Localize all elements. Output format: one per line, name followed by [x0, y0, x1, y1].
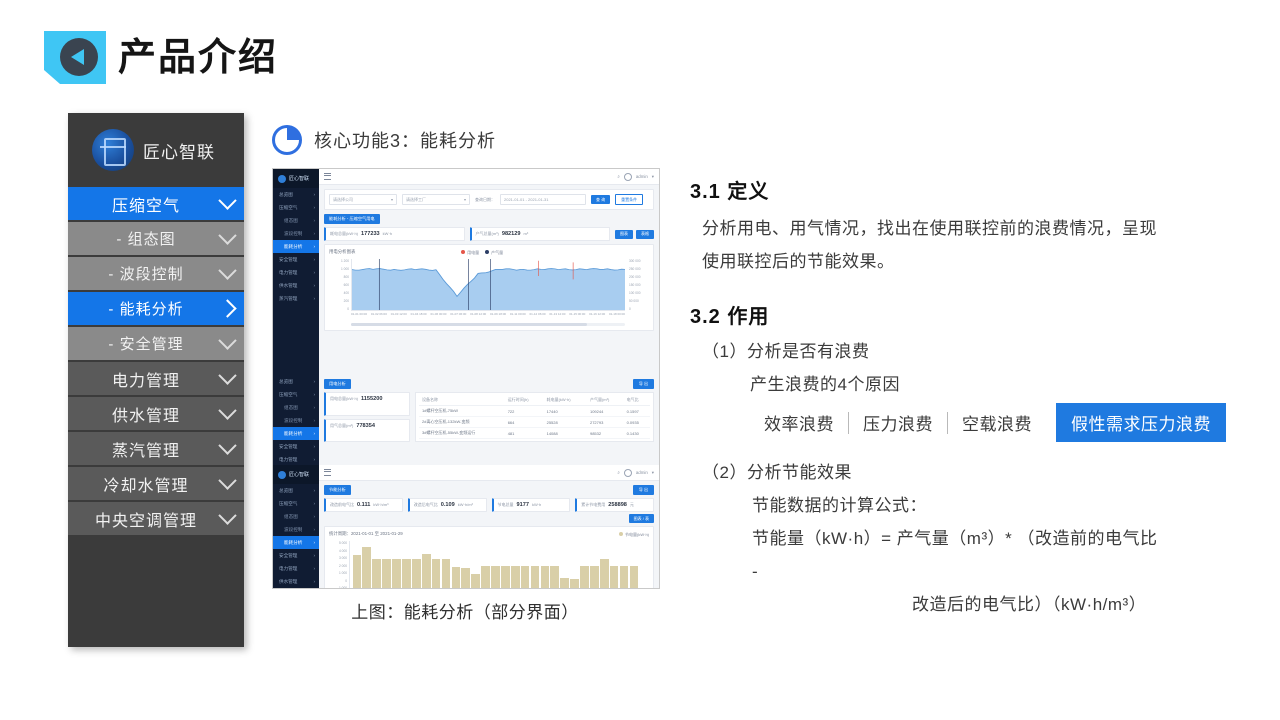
x-tick: 01-04 18:00: [411, 312, 427, 321]
table-header-cell: 运行时间(h): [505, 395, 544, 406]
chevron-right-icon: ›: [313, 392, 315, 397]
embedded-app-screenshot: 匠心智联 总览图›压缩空气›组态图›波段控制›能耗分析›安全管理›电力管理›供水…: [272, 168, 660, 589]
stat-card: 用电总量(kW·h) 1155200: [324, 392, 410, 416]
menu-item-6[interactable]: 供水管理: [68, 397, 244, 432]
y-tick: 5 000: [339, 541, 347, 545]
bar[interactable]: [560, 578, 569, 589]
waste-reason-tags: 效率浪费 压力浪费 空载浪费 假性需求压力浪费: [690, 403, 1250, 442]
bar[interactable]: [461, 568, 470, 589]
table-cell: 722: [505, 406, 544, 417]
panel-title: 统计周期：2021-01-01 至 2021-01-29: [329, 531, 403, 537]
x-tick: 01-03 12:00: [391, 312, 407, 321]
menu-item-label: - 能耗分析: [68, 298, 210, 319]
avatar[interactable]: [624, 469, 632, 477]
x-axis: 01-01 00:0001-02 06:0001-03 12:0001-04 1…: [351, 312, 625, 321]
app-logo-icon: [278, 471, 286, 479]
app-brand-label: 匠心智联: [289, 175, 309, 182]
page-title: 产品介绍: [118, 32, 278, 84]
chart-scrollbar[interactable]: [351, 323, 625, 326]
chevron-right-icon: ›: [313, 283, 315, 288]
table-cell: 98532: [587, 428, 624, 439]
app-main-table: 用电分析 导 出 用电总量(kW·h) 1155200 用气总量(m³) 778…: [319, 375, 659, 465]
title-badge: [44, 31, 106, 84]
section-3-1-body-line2: 使用联控后的节能效果。: [690, 245, 1250, 278]
app-sidebar-3: 匠心智联 总览图›压缩空气›组态图›波段控制›能耗分析›安全管理›电力管理›供水…: [273, 465, 319, 589]
bar[interactable]: [362, 547, 371, 589]
y-tick: 200: [344, 299, 349, 303]
chevron-down-icon[interactable]: ▾: [652, 470, 654, 476]
app-sidebar-item-6[interactable]: 电力管理›: [273, 453, 319, 465]
app-pane-table: 总览图›压缩空气›组态图›波段控制›能耗分析›安全管理›电力管理›供水管理›蒸汽…: [273, 375, 659, 465]
x-tick: 01-11 00:00: [510, 312, 526, 321]
chevron-right-icon: ›: [313, 431, 315, 436]
bar[interactable]: [501, 566, 510, 589]
table-cell: 0.1597: [624, 406, 650, 417]
section-3-1-body-line1: 分析用电、用气情况，找出在使用联控前的浪费情况，呈现: [690, 212, 1250, 245]
section-3-2-heading: 3.2 作用: [690, 300, 1250, 329]
circular-brand-logo-icon: [92, 129, 134, 171]
chevron-right-icon: ›: [313, 566, 315, 571]
y-tick-right: 300 000: [629, 259, 641, 263]
table-cell: 14088: [544, 428, 587, 439]
chevron-right-icon: ›: [313, 501, 315, 506]
waste-tag-0[interactable]: 效率浪费: [750, 410, 848, 435]
app-sidebar-item-3[interactable]: 波段控制›: [273, 227, 319, 240]
y-axis: 5 0004 0003 0002 0001 0000-1 000: [329, 541, 347, 589]
stat-card: 用气总量(m³) 778354: [324, 419, 410, 443]
app-user-label: admin: [636, 174, 648, 179]
menu-brand-label: 匠心智联: [143, 138, 215, 163]
x-tick: 01-15 00:00: [569, 312, 585, 321]
bar[interactable]: [432, 559, 441, 589]
x-tick: 01-12 06:00: [530, 312, 546, 321]
app-sidebar-item-0[interactable]: 总览图›: [273, 484, 319, 497]
app-topbar: ⌕ admin ▾: [319, 465, 659, 481]
table-cell: 25528: [544, 417, 587, 428]
table-cell: 3#螺杆空压机-55kW-变频运行: [419, 428, 505, 439]
bar[interactable]: [442, 559, 451, 589]
app-sidebar-item-2[interactable]: 组态图›: [273, 510, 319, 523]
app-sidebar-item-0[interactable]: 总览图›: [273, 188, 319, 201]
x-tick: 01-01 00:00: [351, 312, 367, 321]
chevron-right-icon: ›: [313, 218, 315, 223]
menu-item-label: - 波段控制: [68, 263, 210, 284]
pie-chart-icon: [272, 125, 302, 155]
stat-cards-2: 改造前电气比0.111kW·h/m³ 改造后电气比0.109kW·h/m³ 节电…: [324, 498, 654, 512]
table-cell: 272793: [587, 417, 624, 428]
app-sidebar-item-6[interactable]: 电力管理›: [273, 266, 319, 279]
app-sidebar-item-1[interactable]: 压缩空气›: [273, 497, 319, 510]
stat-cards-0: 耗电总量(kW·h) 177233 kW·h 产气总量(m³) 982129 m…: [324, 227, 654, 241]
app-logo-icon: [278, 175, 286, 183]
y-axis-right: 300 000250 000200 000150 000100 00050 00…: [629, 259, 649, 311]
feature-title: 核心功能3：能耗分析: [314, 127, 496, 153]
app-main-tan: ⌕ admin ▾ 节能分析 导 出 改造前电气比0.111kW·h/m³ 改造…: [319, 465, 659, 589]
app-sidebar-item-3[interactable]: 波段控制›: [273, 523, 319, 536]
app-sidebar-item-1[interactable]: 压缩空气›: [273, 388, 319, 401]
chevron-down-icon[interactable]: [210, 232, 244, 245]
table-cell: 664: [505, 417, 544, 428]
play-back-triangle-icon: [60, 38, 98, 76]
screenshot-caption: 上图：能耗分析（部分界面）: [272, 598, 658, 623]
factory-select[interactable]: 请选择工厂▾: [402, 194, 470, 205]
device-table: 设备名称运行时间(h)耗电量(kW·h)产气量(m³)电气比 1#螺杆空压机-7…: [419, 395, 650, 439]
stat-card: 产气总量(m³) 982129 m³: [470, 227, 611, 241]
bar[interactable]: [531, 566, 540, 589]
app-filter-bar: 请选择公司▾ 请选择工厂▾ 查询日期： 2021-01-01 - 2021-01…: [324, 189, 654, 210]
app-sidebar-items: 总览图›压缩空气›组态图›波段控制›能耗分析›安全管理›电力管理›供水管理›蒸汽…: [273, 188, 319, 305]
y-tick-right: 100 000: [629, 291, 641, 295]
table-header-row: 设备名称运行时间(h)耗电量(kW·h)产气量(m³)电气比: [419, 395, 650, 406]
app-sidebar-item-4[interactable]: 能耗分析›: [273, 240, 319, 253]
chevron-down-icon[interactable]: [210, 197, 244, 210]
bar[interactable]: [452, 567, 461, 589]
app-sidebar-item-2[interactable]: 组态图›: [273, 401, 319, 414]
formula-line-1: 节能量（kW·h）= 产气量（m³）* （改造前的电气比: [690, 522, 1250, 555]
chevron-right-icon: ›: [313, 579, 315, 584]
chevron-down-icon[interactable]: [210, 337, 244, 350]
app-sidebar-item-7[interactable]: 供水管理›: [273, 575, 319, 588]
chevron-right-icon: ›: [313, 527, 315, 532]
y-tick: 2 000: [339, 564, 347, 568]
menu-item-5[interactable]: 电力管理: [68, 362, 244, 397]
product-menu-panel: 匠心智联 压缩空气- 组态图- 波段控制- 能耗分析- 安全管理电力管理供水管理…: [68, 113, 244, 647]
menu-item-4[interactable]: - 安全管理: [68, 327, 244, 362]
company-select[interactable]: 请选择公司▾: [329, 194, 397, 205]
y-tick-right: 250 000: [629, 267, 641, 271]
table-header-cell: 耗电量(kW·h): [544, 395, 587, 406]
chevron-right-icon: ›: [313, 514, 315, 519]
bar[interactable]: [422, 554, 431, 589]
query-button[interactable]: 查 询: [591, 195, 610, 204]
center-column: 核心功能3：能耗分析 匠心智联 总览图›压缩空气›组态图›波段控制›能耗分析›安…: [272, 118, 664, 623]
menu-item-8[interactable]: 冷却水管理: [68, 467, 244, 502]
app-sidebar-2: 总览图›压缩空气›组态图›波段控制›能耗分析›安全管理›电力管理›供水管理›蒸汽…: [273, 375, 319, 465]
app-sidebar-item-6[interactable]: 电力管理›: [273, 562, 319, 575]
app-sidebar-item-3[interactable]: 波段控制›: [273, 414, 319, 427]
bar[interactable]: [372, 559, 381, 589]
area-chart: 1 2001 0008006004002000 300 000250 00020…: [329, 259, 649, 321]
menu-brand: 匠心智联: [68, 113, 244, 187]
chevron-right-icon: ›: [313, 257, 315, 262]
bar[interactable]: [610, 566, 619, 589]
app-topbar: ⌕ admin ▾: [319, 169, 659, 185]
section-3-2-item-1-sub: 产生浪费的4个原因: [690, 368, 1250, 401]
app-sidebar-item-8[interactable]: 蒸汽管理›: [273, 588, 319, 589]
menu-item-0[interactable]: 压缩空气: [68, 187, 244, 222]
stat-card: 改造后电气比0.109kW·h/m³: [408, 498, 487, 512]
app-topbar-right: ⌕ admin ▾: [617, 173, 654, 181]
app-pane-top: 匠心智联 总览图›压缩空气›组态图›波段控制›能耗分析›安全管理›电力管理›供水…: [273, 169, 659, 375]
menu-item-label: 蒸汽管理: [68, 437, 210, 461]
export-button[interactable]: 导 出: [633, 379, 654, 389]
y-tick: 1 200: [341, 259, 349, 263]
chart-toggle-a[interactable]: 图表: [615, 230, 633, 239]
menu-item-label: 中央空调管理: [68, 507, 210, 531]
chevron-down-icon[interactable]: ▾: [652, 174, 654, 180]
table-header-cell: 设备名称: [419, 395, 505, 406]
app-topbar-right: ⌕ admin ▾: [617, 469, 654, 477]
y-tick: 4 000: [339, 549, 347, 553]
chevron-right-icon: ›: [313, 270, 315, 275]
section-3-2-item-2: （2）分析节能效果: [690, 456, 1250, 489]
bar[interactable]: [491, 566, 500, 589]
bar[interactable]: [541, 566, 550, 589]
chevron-right-icon: ›: [313, 296, 315, 301]
menu-item-label: 供水管理: [68, 402, 210, 426]
menu-item-9[interactable]: 中央空调管理: [68, 502, 244, 537]
x-tick: 01-08 12:00: [470, 312, 486, 321]
bar[interactable]: [620, 566, 629, 589]
app-sidebar-item-0[interactable]: 总览图›: [273, 375, 319, 388]
chevron-down-icon[interactable]: [210, 477, 244, 490]
bar[interactable]: [392, 559, 401, 589]
y-tick-right: 50 000: [629, 299, 639, 303]
table-header-cell: 电气比: [624, 395, 650, 406]
table-cell: 0.1430: [624, 428, 650, 439]
chevron-right-icon: ›: [313, 444, 315, 449]
x-tick: 01-16 12:00: [589, 312, 605, 321]
tan-bar-chart: 5 0004 0003 0002 0001 0000-1 000 2021-01…: [329, 541, 649, 589]
menu-item-label: - 安全管理: [68, 333, 210, 354]
x-tick: 01-13 12:00: [549, 312, 565, 321]
y-tick: 800: [344, 275, 349, 279]
chevron-right-icon: ›: [313, 488, 315, 493]
bar[interactable]: [402, 559, 411, 589]
chevron-right-icon: ›: [313, 205, 315, 210]
chevron-right-icon: ›: [313, 540, 315, 545]
menu-item-label: 电力管理: [68, 367, 210, 391]
bar[interactable]: [471, 574, 480, 589]
chevron-down-icon[interactable]: [210, 372, 244, 385]
section-3-1-heading: 3.1 定义: [690, 175, 1250, 204]
chevron-down-icon: ▾: [391, 197, 393, 202]
search-icon[interactable]: ⌕: [617, 174, 619, 179]
chevron-right-icon: ›: [313, 405, 315, 410]
waste-tag-highlighted[interactable]: 假性需求压力浪费: [1056, 403, 1226, 442]
app-sidebar-item-4[interactable]: 能耗分析›: [273, 427, 319, 440]
search-icon[interactable]: ⌕: [617, 470, 619, 475]
y-tick: 400: [344, 291, 349, 295]
tan-bar-panel: 统计周期：2021-01-01 至 2021-01-29 节电量(kW·h) 5…: [324, 526, 654, 589]
bar[interactable]: [570, 579, 579, 589]
bar[interactable]: [580, 566, 589, 589]
app-sidebar-item-1[interactable]: 压缩空气›: [273, 201, 319, 214]
y-tick-right: 150 000: [629, 283, 641, 287]
y-tick: 1 000: [339, 571, 347, 575]
y-tick: 0: [345, 579, 347, 583]
app-sidebar: 匠心智联 总览图›压缩空气›组态图›波段控制›能耗分析›安全管理›电力管理›供水…: [273, 169, 319, 375]
section-tag: 用电分析: [324, 379, 351, 389]
app-sidebar-item-5[interactable]: 安全管理›: [273, 440, 319, 453]
stat-card: 累计节电费用258898元: [575, 498, 654, 512]
app-sidebar-brand: 匠心智联: [273, 169, 319, 188]
menu-item-7[interactable]: 蒸汽管理: [68, 432, 244, 467]
waste-tag-1[interactable]: 压力浪费: [849, 410, 947, 435]
chevron-right-icon[interactable]: [210, 302, 244, 315]
menu-item-label: 冷却水管理: [68, 472, 210, 496]
menu-item-1[interactable]: - 组态图: [68, 222, 244, 257]
chart-legend: 节电量(kW·h): [619, 532, 649, 538]
chevron-down-icon[interactable]: [210, 267, 244, 280]
section-3-2-item-1: （1）分析是否有浪费: [690, 335, 1250, 368]
area-chart-panel: 用电分析图表 用电量 产气量 1 2001 0008006004002000 3…: [324, 244, 654, 331]
menu-item-label: - 组态图: [68, 228, 210, 249]
bar[interactable]: [521, 566, 530, 589]
section-header-2: 节能分析 导 出: [324, 485, 654, 495]
y-tick: 3 000: [339, 556, 347, 560]
bar[interactable]: [382, 559, 391, 589]
x-tick: 01-02 06:00: [371, 312, 387, 321]
section-tag: 节能分析: [324, 485, 351, 495]
chart-legend: 用电量 产气量: [461, 250, 503, 256]
x-tick: 01-07 06:00: [450, 312, 466, 321]
y-tick: 600: [344, 283, 349, 287]
reset-button[interactable]: 重置条件: [615, 194, 643, 205]
app-pane-tan-bars: 匠心智联 总览图›压缩空气›组态图›波段控制›能耗分析›安全管理›电力管理›供水…: [273, 465, 659, 589]
table-cell: 2#离心空压机-132kW-变频: [419, 417, 505, 428]
table-cell: 481: [505, 428, 544, 439]
bar[interactable]: [353, 555, 362, 589]
y-tick: -1 000: [338, 586, 347, 589]
app-sidebar-brand: 匠心智联: [273, 465, 319, 484]
app-sidebar-item-2[interactable]: 组态图›: [273, 214, 319, 227]
chevron-down-icon[interactable]: [210, 407, 244, 420]
formula-line-2: -: [690, 555, 1250, 588]
chevron-down-icon: ▾: [464, 197, 466, 202]
panel-title: 用电分析图表: [329, 249, 355, 255]
y-tick-right: 200 000: [629, 275, 641, 279]
chevron-down-icon[interactable]: [210, 512, 244, 525]
bar[interactable]: [511, 566, 520, 589]
menu-item-2[interactable]: - 波段控制: [68, 257, 244, 292]
section-header-1: 用电分析 导 出: [324, 379, 654, 389]
menu-item-label: 压缩空气: [68, 192, 210, 216]
bar[interactable]: [600, 559, 609, 589]
bar[interactable]: [550, 566, 559, 589]
app-sidebar-item-7[interactable]: 供水管理›: [273, 279, 319, 292]
chevron-right-icon: ›: [313, 418, 315, 423]
app-sidebar-item-8[interactable]: 蒸汽管理›: [273, 292, 319, 305]
app-sidebar-items: 总览图›压缩空气›组态图›波段控制›能耗分析›安全管理›电力管理›供水管理›蒸汽…: [273, 375, 319, 465]
table-row[interactable]: 1#螺杆空压机-75kW722174401092440.1597: [419, 406, 650, 417]
slide-title-bar: 产品介绍: [0, 0, 1280, 105]
bar[interactable]: [630, 566, 639, 589]
chevron-right-icon: ›: [313, 457, 315, 462]
view-toggle[interactable]: 图表 / 表: [629, 514, 654, 523]
avatar[interactable]: [624, 173, 632, 181]
table-header-cell: 产气量(m³): [587, 395, 624, 406]
y-tick: 0: [347, 307, 349, 311]
chevron-right-icon: ›: [313, 379, 315, 384]
bar[interactable]: [590, 566, 599, 589]
chevron-right-icon: ›: [313, 553, 315, 558]
app-main-top: ⌕ admin ▾ 请选择公司▾ 请选择工厂▾ 查询日期： 20: [319, 169, 659, 375]
table-cell: 0.0935: [624, 417, 650, 428]
section-3-2-item-2-sub: 节能数据的计算公式：: [690, 489, 1250, 522]
export-button[interactable]: 导 出: [633, 485, 654, 495]
table-row[interactable]: 2#离心空压机-132kW-变频664255282727930.0935: [419, 417, 650, 428]
chevron-down-icon[interactable]: [210, 442, 244, 455]
date-label: 查询日期：: [475, 197, 495, 203]
table-cell: 17440: [544, 406, 587, 417]
app-sidebar-item-4[interactable]: 能耗分析›: [273, 536, 319, 549]
stat-card: 节电总量9177kW·h: [492, 498, 571, 512]
chevron-right-icon: ›: [313, 192, 315, 197]
formula-line-3: 改造后的电气比）（kW·h/m³）: [690, 588, 1250, 621]
table-row[interactable]: 3#螺杆空压机-55kW-变频运行48114088985320.1430: [419, 428, 650, 439]
app-sidebar-item-5[interactable]: 安全管理›: [273, 549, 319, 562]
chart-toggle-b[interactable]: 表格: [636, 230, 654, 239]
section-header-0: 能耗分析 - 压缩空气用电: [324, 214, 654, 224]
chevron-right-icon: ›: [313, 231, 315, 236]
bar[interactable]: [412, 559, 421, 589]
menu-list: 压缩空气- 组态图- 波段控制- 能耗分析- 安全管理电力管理供水管理蒸汽管理冷…: [68, 187, 244, 537]
area-chart-plot: [351, 259, 625, 311]
stat-card: 改造前电气比0.111kW·h/m³: [324, 498, 403, 512]
app-sidebar-items: 总览图›压缩空气›组态图›波段控制›能耗分析›安全管理›电力管理›供水管理›蒸汽…: [273, 484, 319, 589]
section-tag: 能耗分析 - 压缩空气用电: [324, 214, 380, 224]
menu-burger-icon[interactable]: [324, 469, 331, 476]
x-tick: 01-18 00:00: [609, 312, 625, 321]
y-tick-right: 0: [629, 307, 631, 311]
bar-plot-tan: [349, 541, 641, 589]
waste-tag-2[interactable]: 空载浪费: [948, 410, 1046, 435]
stat-card: 耗电总量(kW·h) 177233 kW·h: [324, 227, 465, 241]
table-cell: 109244: [587, 406, 624, 417]
menu-burger-icon[interactable]: [324, 173, 331, 180]
table-body: 1#螺杆空压机-75kW722174401092440.15972#离心空压机-…: [419, 406, 650, 439]
chevron-right-icon: ›: [313, 244, 315, 249]
bar[interactable]: [481, 566, 490, 589]
app-sidebar-item-5[interactable]: 安全管理›: [273, 253, 319, 266]
date-range-input[interactable]: 2021-01-01 - 2021-01-31: [500, 194, 586, 205]
feature-heading: 核心功能3：能耗分析: [272, 118, 664, 162]
table-cell: 1#螺杆空压机-75kW: [419, 406, 505, 417]
menu-item-3[interactable]: - 能耗分析: [68, 292, 244, 327]
y-axis-left: 1 2001 0008006004002000: [329, 259, 349, 311]
x-tick: 01-06 00:00: [430, 312, 446, 321]
x-tick: 01-09 18:00: [490, 312, 506, 321]
y-tick: 1 000: [341, 267, 349, 271]
right-content-column: 3.1 定义 分析用电、用气情况，找出在使用联控前的浪费情况，呈现 使用联控后的…: [690, 175, 1250, 621]
